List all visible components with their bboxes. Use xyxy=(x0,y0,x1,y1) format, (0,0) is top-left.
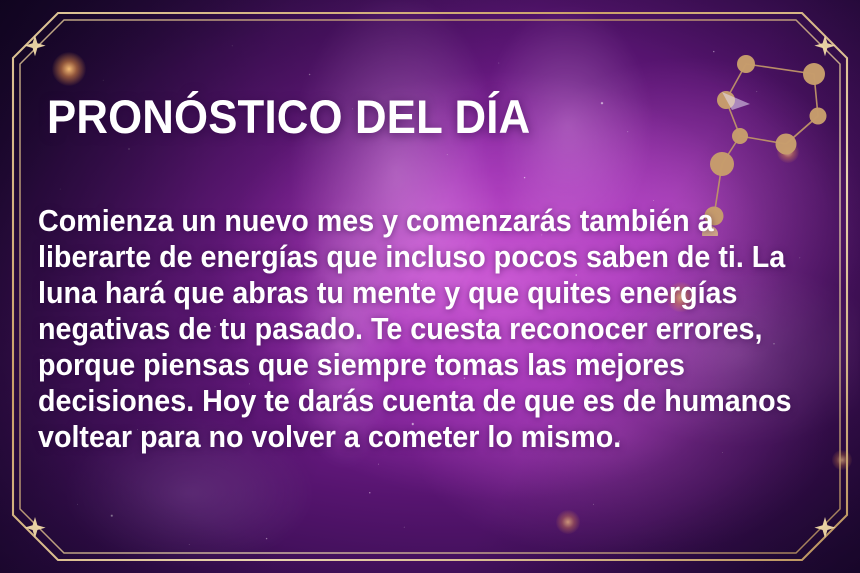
forecast-line: liberarte de energías que incluso pocos … xyxy=(38,239,781,275)
card-content: PRONÓSTICO DEL DÍA Comienza un nuevo mes… xyxy=(0,0,860,573)
horoscope-card: PRONÓSTICO DEL DÍA Comienza un nuevo mes… xyxy=(0,0,860,573)
forecast-line: negativas de tu pasado. Te cuesta recono… xyxy=(38,311,781,347)
forecast-line: decisiones. Hoy te darás cuenta de que e… xyxy=(38,383,781,419)
forecast-line: voltear para no volver a cometer lo mism… xyxy=(38,419,781,455)
forecast-line: Comienza un nuevo mes y comenzarás tambi… xyxy=(38,203,781,239)
forecast-body-text: Comienza un nuevo mes y comenzarás tambi… xyxy=(38,203,781,455)
page-title: PRONÓSTICO DEL DÍA xyxy=(47,93,530,140)
forecast-line: porque piensas que siempre tomas las mej… xyxy=(38,347,781,383)
forecast-line: luna hará que abras tu mente y que quite… xyxy=(38,275,781,311)
